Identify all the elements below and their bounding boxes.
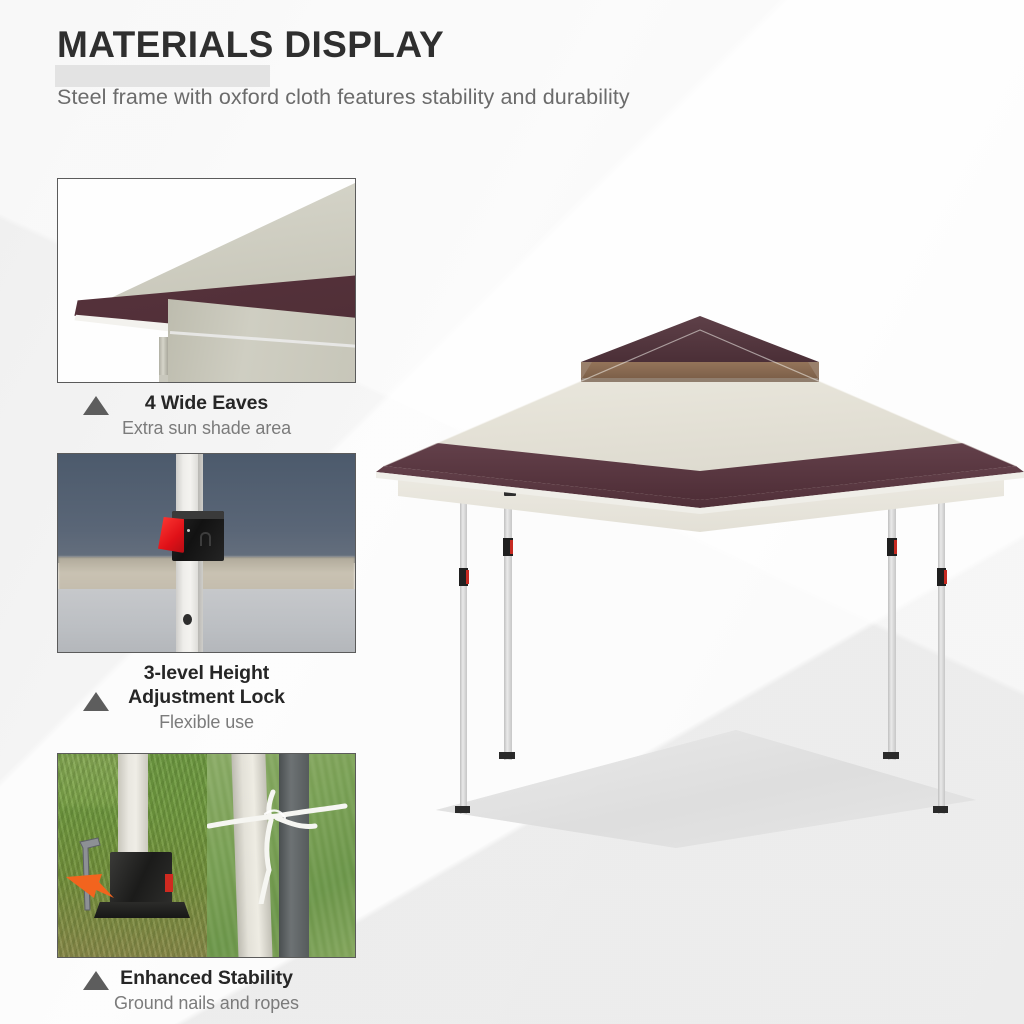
title-underline-bar <box>55 65 270 87</box>
height-lock-arch-glyph <box>200 532 211 546</box>
materials-display-page: MATERIALS DISPLAY Steel frame with oxfor… <box>0 0 1024 1024</box>
page-subtitle: Steel frame with oxford cloth features s… <box>57 85 957 110</box>
feature-subtitle: Ground nails and ropes <box>57 992 356 1015</box>
feature-subtitle: Extra sun shade area <box>57 417 356 440</box>
guy-rope-icon <box>207 784 356 904</box>
feature-card-height-lock: 3-level Height Adjustment Lock Flexible … <box>57 453 356 734</box>
feature-subtitle: Flexible use <box>57 711 356 734</box>
feature-photo-enhanced-stability <box>57 753 356 958</box>
feature-caption-enhanced-stability: Enhanced Stability Ground nails and rope… <box>57 967 356 1015</box>
leg-pin-hole <box>183 614 192 625</box>
gazebo-leg-back-left <box>455 492 470 814</box>
feature-card-enhanced-stability: Enhanced Stability Ground nails and rope… <box>57 753 356 1015</box>
gazebo-leg-back-right <box>933 492 948 814</box>
triangle-icon <box>83 971 109 990</box>
gazebo-leg-front-left <box>499 496 515 760</box>
triangle-icon <box>83 692 109 711</box>
gazebo-illustration <box>376 300 1024 860</box>
gazebo-leg-front-right <box>883 496 899 760</box>
canopy-leg-lower <box>159 375 168 383</box>
product-image-gazebo <box>376 300 1024 860</box>
photo-ground <box>58 589 355 652</box>
feature-caption-height-lock: 3-level Height Adjustment Lock Flexible … <box>57 662 356 734</box>
feature-card-wide-eaves: 4 Wide Eaves Extra sun shade area <box>57 178 356 440</box>
triangle-icon <box>83 396 109 415</box>
height-lock-screw <box>187 529 190 532</box>
page-title-wrap: MATERIALS DISPLAY <box>57 26 444 65</box>
orange-arrow-icon <box>66 872 120 902</box>
page-title: MATERIALS DISPLAY <box>57 26 444 65</box>
foot-red-tab <box>165 874 173 892</box>
vent-shadow <box>581 378 819 382</box>
feature-photo-wide-eaves <box>57 178 356 383</box>
photo-grass-right <box>207 754 356 957</box>
photo-grass-left <box>58 754 207 957</box>
canopy-vent-band <box>581 362 819 378</box>
feature-caption-wide-eaves: 4 Wide Eaves Extra sun shade area <box>57 392 356 440</box>
feature-photo-height-lock <box>57 453 356 653</box>
header: MATERIALS DISPLAY Steel frame with oxfor… <box>57 26 957 110</box>
canopy-vent-top <box>581 316 819 362</box>
height-lock-housing-top <box>172 511 224 519</box>
gazebo-foot-base-plate <box>94 902 190 918</box>
feature-title-line1: 3-level Height <box>57 662 356 686</box>
